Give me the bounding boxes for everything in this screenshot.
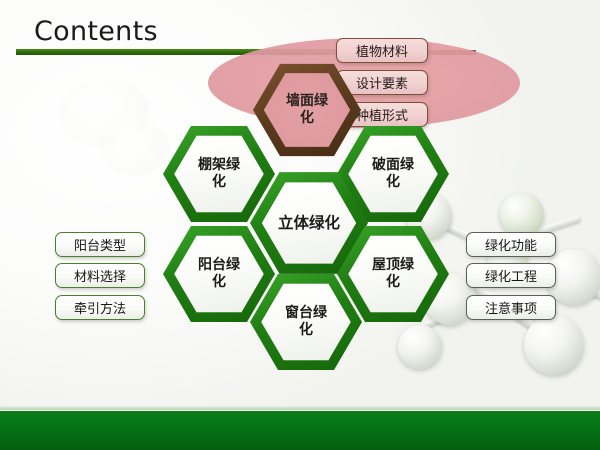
label-chip-text: 绿化工程 bbox=[485, 266, 537, 285]
hexagon-windowsill-greening[interactable]: 窗台绿化 bbox=[250, 272, 362, 372]
label-chip-greening-project[interactable]: 绿化工程 bbox=[466, 263, 556, 288]
hexagon-label-line2: 化 bbox=[386, 274, 400, 290]
hexagon-label-line1: 棚架绿 bbox=[198, 157, 240, 173]
hexagon-label-line2: 化 bbox=[212, 174, 226, 190]
label-chip-material-selection[interactable]: 材料选择 bbox=[55, 263, 145, 288]
decorative-blob bbox=[100, 120, 170, 175]
slide-canvas: Contents 植物材料 设计要素 种植形式 墙面绿化 棚架绿化 破面绿化 bbox=[0, 0, 600, 450]
footer-accent-line bbox=[0, 406, 600, 410]
label-chip-text: 注意事项 bbox=[485, 298, 537, 317]
page-title: Contents bbox=[34, 16, 158, 47]
label-chip-greening-function[interactable]: 绿化功能 bbox=[466, 232, 556, 257]
footer-bar bbox=[0, 411, 600, 450]
hexagon-label-line2: 化 bbox=[212, 274, 226, 290]
hexagon-label-line1: 墙面绿 bbox=[286, 93, 328, 109]
hexagon-label-line1: 屋顶绿 bbox=[372, 257, 414, 273]
label-chip-text: 种植形式 bbox=[356, 105, 408, 124]
label-chip-precautions[interactable]: 注意事项 bbox=[466, 295, 556, 320]
label-chip-text: 植物材料 bbox=[356, 41, 408, 60]
label-chip-text: 牵引方法 bbox=[74, 298, 126, 317]
hexagon-label-line1: 破面绿 bbox=[372, 157, 414, 173]
hexagon-label-line2: 化 bbox=[299, 322, 313, 338]
hexagon-label-line2: 化 bbox=[386, 174, 400, 190]
label-chip-text: 阳台类型 bbox=[74, 235, 126, 254]
label-chip-traction-method[interactable]: 牵引方法 bbox=[55, 295, 145, 320]
label-chip-plant-material[interactable]: 植物材料 bbox=[336, 38, 428, 63]
label-chip-text: 设计要素 bbox=[356, 73, 408, 92]
hexagon-label-line1: 窗台绿 bbox=[285, 305, 327, 321]
molecule-rod bbox=[549, 275, 600, 301]
hexagon-label-line2: 化 bbox=[300, 110, 314, 126]
molecule-node bbox=[500, 193, 544, 237]
label-chip-balcony-type[interactable]: 阳台类型 bbox=[55, 232, 145, 257]
molecule-node bbox=[398, 325, 442, 369]
hexagon-label-line1: 阳台绿 bbox=[198, 257, 240, 273]
label-chip-text: 材料选择 bbox=[74, 266, 126, 285]
label-chip-text: 绿化功能 bbox=[485, 235, 537, 254]
molecule-node bbox=[524, 315, 584, 375]
hexagon-label: 窗台绿化 bbox=[250, 272, 362, 372]
